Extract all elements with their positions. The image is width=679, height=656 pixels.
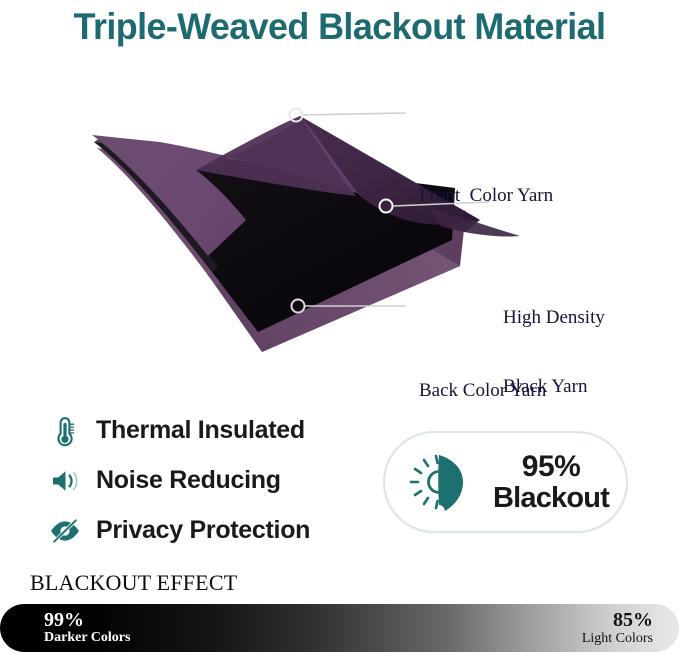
blackout-percent-value: 95% [493, 451, 609, 482]
blackout-badge-text: 95% Blackout [493, 451, 609, 512]
feature-list: Thermal Insulated Noise Reducing Privacy… [44, 408, 364, 558]
label-black-yarn-line1: High Density [503, 306, 605, 329]
blackout-effect-heading: BLACKOUT EFFECT [30, 570, 237, 596]
blackout-word-label: Blackout [493, 483, 609, 513]
effect-light-percent: 85% [582, 609, 653, 631]
effect-light-caption: Light Colors [582, 631, 653, 646]
page-title: Triple-Weaved Blackout Material [10, 4, 669, 50]
fabric-layers-diagram: Front Color Yarn High Density Black Yarn… [0, 80, 679, 370]
label-back-color-yarn: Back Color Yarn [419, 379, 546, 402]
effect-light-colors-group: 85% Light Colors [582, 609, 653, 646]
feature-thermal-insulated: Thermal Insulated [44, 408, 364, 453]
feature-privacy-protection: Privacy Protection [44, 508, 364, 553]
feature-noise-reducing: Noise Reducing [44, 458, 364, 503]
thermometer-icon [44, 415, 86, 447]
speaker-sound-icon [44, 467, 86, 495]
feature-label-privacy-protection: Privacy Protection [96, 516, 310, 545]
effect-darker-percent: 99% [44, 610, 130, 631]
feature-label-thermal-insulated: Thermal Insulated [96, 416, 305, 445]
label-front-color-yarn: Front Color Yarn [419, 184, 553, 207]
feature-label-noise-reducing: Noise Reducing [96, 466, 281, 495]
sun-behind-curtain-icon [405, 447, 479, 517]
effect-darker-caption: Darker Colors [44, 631, 130, 646]
blackout-effect-gradient-bar: 99% Darker Colors 85% Light Colors [0, 604, 679, 652]
blackout-percentage-badge: 95% Blackout [383, 431, 628, 533]
label-high-density-black-yarn: High Density Black Yarn [503, 260, 605, 444]
effect-darker-colors-group: 99% Darker Colors [44, 610, 130, 646]
eye-off-icon [44, 518, 86, 544]
